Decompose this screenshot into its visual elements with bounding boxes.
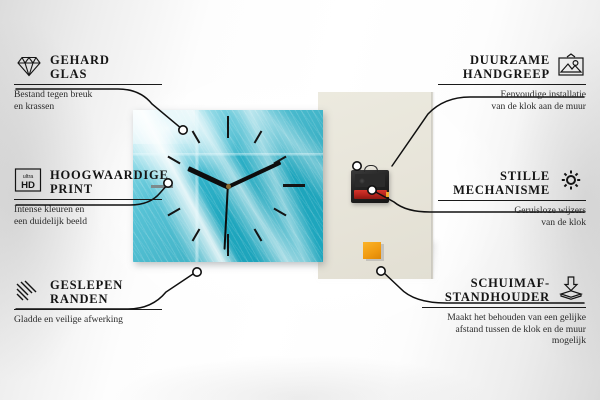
infographic-canvas: GEHARD GLAS Bestand tegen breuk en krass… (0, 0, 600, 400)
press-down-icon (556, 275, 586, 301)
callout-desc: Intense kleuren en een duidelijk beeld (14, 204, 162, 227)
callout-title: HOOGWAARDIGE PRINT (50, 165, 162, 196)
foam-spacer-pad (363, 242, 381, 259)
callout-rule (14, 199, 162, 200)
hands-center-pin (226, 184, 231, 189)
callout-hd-print: ultra HD HOOGWAARDIGE PRINT Intense kleu… (14, 165, 162, 227)
hour-marker-12 (227, 116, 229, 138)
hour-marker-6 (227, 234, 229, 256)
picture-frame-icon (556, 53, 586, 79)
callout-foam-spacer: SCHUIMAF- STANDHOUDER Maakt het behouden… (422, 274, 586, 347)
callout-silent-mechanism: STILLE MECHANISME Geruisloze wijzers van… (438, 166, 586, 228)
callout-rule (438, 200, 586, 201)
callout-polished-edges: GESLEPEN RANDEN Gladde en veilige afwerk… (14, 276, 162, 326)
callout-rule (14, 84, 162, 85)
gear-icon (556, 167, 586, 193)
product-photo (133, 92, 433, 284)
callout-rule (14, 309, 162, 310)
ultra-hd-icon: ultra HD (14, 167, 42, 193)
callout-durable-hanger: DUURZAME HANDGREEP Eenvoudige installati… (438, 50, 586, 112)
battery (354, 190, 387, 199)
callout-desc: Eenvoudige installatie van de klok aan d… (438, 89, 586, 112)
callout-desc: Bestand tegen breuk en krassen (14, 89, 162, 112)
clock-movement (351, 170, 389, 203)
hour-marker-3 (283, 184, 305, 187)
callout-tempered-glass: GEHARD GLAS Bestand tegen breuk en krass… (14, 50, 162, 112)
callout-rule (438, 84, 586, 85)
diamond-icon (14, 53, 44, 79)
callout-title: DUURZAME HANDGREEP (438, 50, 550, 81)
polished-edges-icon (14, 278, 44, 304)
svg-text:HD: HD (21, 180, 35, 191)
movement-detail (355, 174, 385, 187)
callout-title: GEHARD GLAS (50, 50, 162, 81)
wall-panel-edge (431, 92, 435, 279)
callout-title: SCHUIMAF- STANDHOUDER (422, 274, 550, 304)
callout-desc: Maakt het behouden van een gelijke afsta… (422, 312, 586, 347)
callout-desc: Gladde en veilige afwerking (14, 314, 162, 326)
callout-rule (422, 307, 586, 308)
callout-title: STILLE MECHANISME (438, 166, 550, 197)
clock-corner-glow (133, 110, 195, 144)
callout-desc: Geruisloze wijzers van de klok (438, 205, 586, 228)
callout-title: GESLEPEN RANDEN (50, 276, 162, 306)
